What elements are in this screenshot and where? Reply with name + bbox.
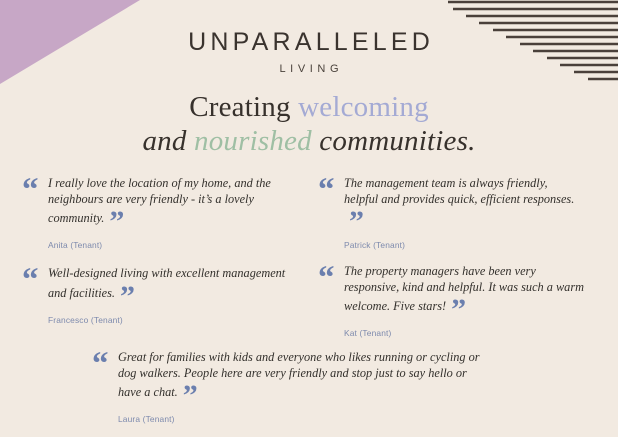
headline-line-1: Creating welcoming [0, 90, 618, 124]
testimonial-card-laura: “ Great for families with kids and every… [92, 350, 492, 424]
quote-open-icon: “ [22, 174, 39, 207]
testimonials-slide: UNPARALLELED LIVING Creating welcoming a… [0, 0, 618, 437]
quote-open-icon: “ [92, 348, 109, 381]
quote-close-icon: ” [451, 295, 465, 325]
testimonial-body: “ The management team is always friendly… [318, 176, 584, 237]
headline-accent-nourished: nourished [194, 125, 312, 157]
page-title: Creating welcoming and nourished communi… [0, 90, 618, 158]
brand-logo: UNPARALLELED LIVING [0, 30, 618, 75]
quote-close-icon: ” [349, 207, 363, 237]
quote-close-icon: ” [120, 282, 134, 312]
testimonial-author: Laura (Tenant) [92, 414, 492, 424]
quote-open-icon: “ [318, 262, 335, 295]
testimonial-quote: Great for families with kids and everyon… [118, 350, 480, 399]
quote-open-icon: “ [22, 264, 39, 297]
brand-name: UNPARALLELED [0, 30, 618, 55]
testimonial-author: Francesco (Tenant) [22, 315, 290, 325]
quote-close-icon: ” [183, 381, 197, 411]
headline-text-communities: communities. [312, 125, 476, 157]
testimonial-body: “ Well-designed living with excellent ma… [22, 266, 290, 312]
testimonial-card-francesco: “ Well-designed living with excellent ma… [22, 266, 290, 325]
testimonial-body: “ I really love the location of my home,… [22, 176, 290, 237]
quote-close-icon: ” [109, 207, 123, 237]
headline-accent-welcoming: welcoming [298, 91, 429, 123]
testimonial-card-kat: “ The property managers have been very r… [318, 264, 590, 338]
testimonial-text: Great for families with kids and everyon… [92, 350, 492, 411]
headline-text-creating: Creating [189, 91, 298, 123]
testimonial-quote: Well-designed living with excellent mana… [48, 266, 285, 300]
testimonial-text: I really love the location of my home, a… [22, 176, 290, 237]
testimonial-quote: The management team is always friendly, … [344, 176, 574, 206]
testimonial-text: The property managers have been very res… [318, 264, 590, 325]
testimonial-text: The management team is always friendly, … [318, 176, 584, 237]
headline-text-and: and [142, 125, 194, 157]
testimonial-author: Anita (Tenant) [22, 240, 290, 250]
testimonial-quote: I really love the location of my home, a… [48, 176, 271, 225]
brand-tagline: LIVING [0, 64, 618, 75]
headline-line-2: and nourished communities. [0, 124, 618, 158]
testimonial-card-anita: “ I really love the location of my home,… [22, 176, 290, 250]
quote-open-icon: “ [318, 174, 335, 207]
testimonial-body: “ Great for families with kids and every… [92, 350, 492, 411]
testimonial-author: Patrick (Tenant) [318, 240, 584, 250]
testimonial-author: Kat (Tenant) [318, 328, 590, 338]
testimonial-body: “ The property managers have been very r… [318, 264, 590, 325]
testimonial-card-patrick: “ The management team is always friendly… [318, 176, 584, 250]
testimonial-text: Well-designed living with excellent mana… [22, 266, 290, 312]
